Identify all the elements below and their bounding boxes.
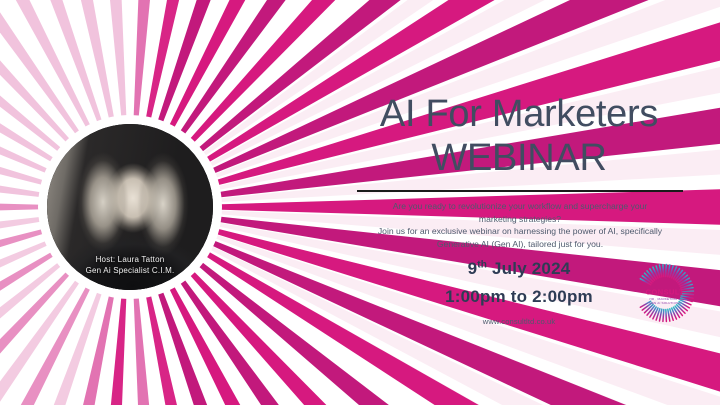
consult-logo[interactable]: CONSULT HR · MARKETING & GEN AI SOLUTION… <box>629 262 701 324</box>
logo-ray <box>668 309 670 321</box>
logo-tagline-2: GEN AI SOLUTIONS <box>649 301 680 305</box>
event-date-day: 9 <box>468 259 478 278</box>
title-line-secondary: WEBINAR <box>340 136 698 180</box>
description-line-1: Are you ready to revolutionize your work… <box>364 200 676 213</box>
content-panel: AI For Marketers WEBINAR Are you ready t… <box>340 0 720 405</box>
title-line-primary: AI For Marketers <box>340 92 698 136</box>
description-line-2: marketing strategies? <box>364 213 676 226</box>
logo-ray <box>663 309 664 321</box>
logo-ray <box>668 265 670 277</box>
host-portrait: Host: Laura Tatton Gen Ai Specialist C.I… <box>47 124 213 290</box>
description-line-4: Generative AI (Gen AI), tailored just fo… <box>364 238 676 251</box>
description-text: Are you ready to revolutionize your work… <box>364 200 676 250</box>
page-title: AI For Marketers WEBINAR <box>340 92 698 180</box>
description-line-3: Join us for an exclusive webinar on harn… <box>364 225 676 238</box>
event-date-ordinal: th <box>477 259 487 270</box>
logo-wordmark: CONSULT <box>646 288 685 297</box>
title-divider <box>357 190 683 192</box>
host-role: Gen Ai Specialist C.I.M. <box>47 265 213 276</box>
host-name: Host: Laura Tatton <box>47 254 213 265</box>
webinar-poster: Host: Laura Tatton Gen Ai Specialist C.I… <box>0 0 720 405</box>
logo-ray <box>663 265 664 277</box>
logo-ray <box>666 265 667 277</box>
event-date-month-year: July 2024 <box>487 259 570 278</box>
logo-ray <box>666 309 667 321</box>
consult-logo-mark-icon: CONSULT HR · MARKETING & GEN AI SOLUTION… <box>629 262 701 324</box>
host-caption: Host: Laura Tatton Gen Ai Specialist C.I… <box>47 254 213 276</box>
